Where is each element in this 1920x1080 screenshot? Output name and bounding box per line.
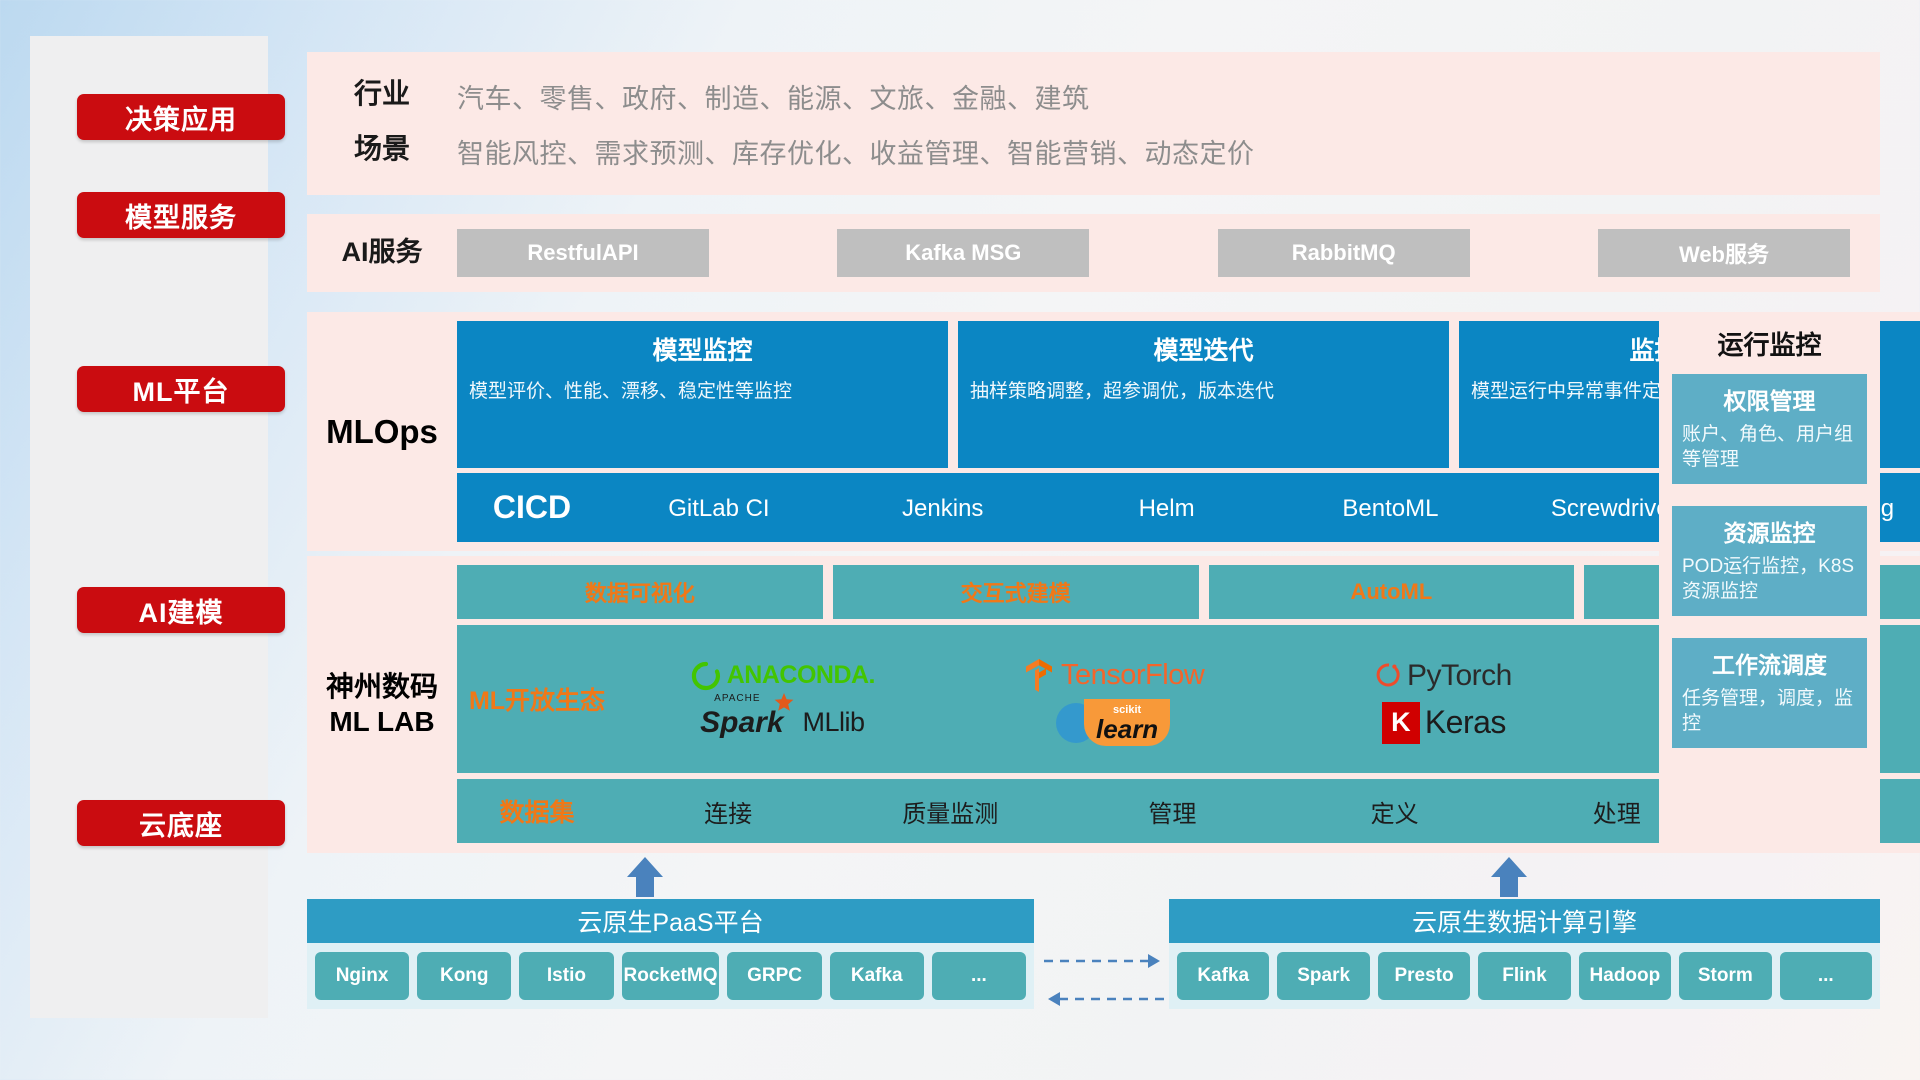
monitoring-card-workflow[interactable]: 工作流调度 任务管理，调度，监控: [1672, 638, 1867, 748]
engine-chip-storm[interactable]: Storm: [1679, 952, 1771, 1000]
tensorflow-wordmark: TensorFlow: [1061, 659, 1204, 692]
tool-automl[interactable]: AutoML: [1209, 565, 1575, 619]
dataset-item-connect[interactable]: 连接: [617, 794, 839, 829]
pytorch-logo: PyTorch: [1376, 659, 1512, 693]
paas-chip-istio[interactable]: Istio: [519, 952, 613, 1000]
card-desc: 账户、角色、用户组等管理: [1682, 422, 1857, 472]
cicd-item-gitlab-ci[interactable]: GitLab CI: [607, 490, 831, 524]
card-title: 权限管理: [1682, 382, 1857, 416]
tensorflow-mark-icon: [1022, 658, 1056, 694]
keras-badge: K: [1382, 702, 1420, 744]
card-title: 资源监控: [1682, 514, 1857, 548]
scikit-learn-logo: scikit learn: [1056, 699, 1170, 746]
cloud-data-engine-block: 云原生数据计算引擎 Kafka Spark Presto Flink Hadoo…: [1169, 899, 1880, 1009]
left-rail: 决策应用 模型服务 ML平台 AI建模 云底座: [30, 36, 268, 1018]
mllib-wordmark: MLlib: [803, 707, 865, 738]
anaconda-wordmark: ANACONDA.: [727, 661, 875, 690]
bidirectional-link-icon: [1042, 949, 1166, 1011]
ai-service-chip-web[interactable]: Web服务: [1598, 229, 1850, 277]
anaconda-mark-icon: [690, 660, 722, 692]
cloud-data-engine-title: 云原生数据计算引擎: [1169, 899, 1880, 943]
ml-lab-label-wrap: 神州数码ML LAB: [307, 556, 457, 853]
cicd-label: CICD: [457, 489, 607, 526]
arrow-up-data-engine-icon: [1487, 855, 1531, 899]
ml-lab-label-line2: ML LAB: [329, 706, 434, 737]
anaconda-logo: ANACONDA.: [690, 660, 875, 692]
ai-service-label: AI服务: [307, 237, 457, 269]
engine-chip-flink[interactable]: Flink: [1478, 952, 1570, 1000]
learn-wordmark: learn: [1096, 716, 1158, 742]
rail-tag-decision-app[interactable]: 决策应用: [77, 94, 285, 140]
industry-label: 行业: [307, 77, 457, 116]
spark-star-icon: [772, 692, 796, 716]
spark-mllib-logo: APACHE Spark MLlib: [700, 706, 864, 740]
pytorch-wordmark: PyTorch: [1407, 659, 1512, 693]
rail-tag-ai-modeling[interactable]: AI建模: [77, 587, 285, 633]
ml-lab-label: 神州数码ML LAB: [326, 670, 438, 738]
monitoring-card-resources[interactable]: 资源监控 POD运行监控，K8S资源监控: [1672, 506, 1867, 616]
keras-wordmark: Keras: [1425, 704, 1506, 741]
ai-service-chip-restfulapi[interactable]: RestfulAPI: [457, 229, 709, 277]
mlops-card-model-monitoring[interactable]: 模型监控 模型评价、性能、漂移、稳定性等监控: [457, 321, 948, 468]
ml-eco-label: ML开放生态: [457, 681, 617, 717]
paas-chip-rocketmq[interactable]: RocketMQ: [622, 952, 720, 1000]
paas-chip-kafka[interactable]: Kafka: [830, 952, 924, 1000]
cloud-foundation-zone: 云原生PaaS平台 Nginx Kong Istio RocketMQ GRPC…: [307, 853, 1880, 1028]
tool-data-visualization[interactable]: 数据可视化: [457, 565, 823, 619]
dataset-item-manage[interactable]: 管理: [1061, 794, 1283, 829]
rail-tag-model-service[interactable]: 模型服务: [77, 192, 285, 238]
ai-service-chip-rabbitmq[interactable]: RabbitMQ: [1218, 229, 1470, 277]
engine-chip-more[interactable]: ...: [1780, 952, 1872, 1000]
cicd-item-bentoml[interactable]: BentoML: [1278, 490, 1502, 524]
paas-chip-kong[interactable]: Kong: [417, 952, 511, 1000]
cloud-paas-block: 云原生PaaS平台 Nginx Kong Istio RocketMQ GRPC…: [307, 899, 1034, 1009]
dataset-item-quality[interactable]: 质量监测: [839, 794, 1061, 829]
monitoring-title: 运行监控: [1659, 312, 1880, 374]
engine-chip-kafka[interactable]: Kafka: [1177, 952, 1269, 1000]
engine-chip-presto[interactable]: Presto: [1378, 952, 1470, 1000]
card-desc: 模型评价、性能、漂移、稳定性等监控: [469, 379, 936, 405]
paas-chip-grpc[interactable]: GRPC: [727, 952, 821, 1000]
mlops-card-model-iteration[interactable]: 模型迭代 抽样策略调整，超参调优，版本迭代: [958, 321, 1449, 468]
business-panel: 行业 汽车、零售、政府、制造、能源、文旅、金融、建筑 场景 智能风控、需求预测、…: [307, 52, 1880, 195]
keras-logo: K Keras: [1382, 702, 1506, 744]
card-desc: POD运行监控，K8S资源监控: [1682, 554, 1857, 604]
monitoring-panel: 运行监控 权限管理 账户、角色、用户组等管理 资源监控 POD运行监控，K8S资…: [1659, 312, 1880, 853]
scenario-label: 场景: [307, 132, 457, 171]
scenario-values: 智能风控、需求预测、库存优化、收益管理、智能营销、动态定价: [457, 132, 1880, 171]
dataset-item-define[interactable]: 定义: [1284, 794, 1506, 829]
card-title: 工作流调度: [1682, 646, 1857, 680]
engine-chip-hadoop[interactable]: Hadoop: [1579, 952, 1671, 1000]
arrow-up-paas-icon: [623, 855, 667, 899]
card-desc: 任务管理，调度，监控: [1682, 686, 1857, 736]
cloud-paas-title: 云原生PaaS平台: [307, 899, 1034, 943]
paas-chip-nginx[interactable]: Nginx: [315, 952, 409, 1000]
mlops-label-wrap: MLOps: [307, 312, 457, 551]
ml-lab-label-line1: 神州数码: [326, 671, 438, 702]
paas-chip-more[interactable]: ...: [932, 952, 1026, 1000]
rail-tag-ml-platform[interactable]: ML平台: [77, 366, 285, 412]
card-desc: 抽样策略调整，超参调优，版本迭代: [970, 379, 1437, 405]
card-title: 模型迭代: [970, 331, 1437, 367]
ai-service-panel: AI服务 RestfulAPI Kafka MSG RabbitMQ Web服务: [307, 214, 1880, 292]
tool-interactive-modeling[interactable]: 交互式建模: [833, 565, 1199, 619]
monitoring-card-permissions[interactable]: 权限管理 账户、角色、用户组等管理: [1672, 374, 1867, 484]
rail-tag-cloud-base[interactable]: 云底座: [77, 800, 285, 846]
engine-chip-spark[interactable]: Spark: [1277, 952, 1369, 1000]
diagram-canvas: 决策应用 模型服务 ML平台 AI建模 云底座 行业 汽车、零售、政府、制造、能…: [0, 0, 1920, 1080]
cicd-item-jenkins[interactable]: Jenkins: [831, 490, 1055, 524]
dataset-label: 数据集: [457, 793, 617, 829]
industry-values: 汽车、零售、政府、制造、能源、文旅、金融、建筑: [457, 77, 1880, 116]
card-title: 模型监控: [469, 331, 936, 367]
cicd-item-helm[interactable]: Helm: [1055, 490, 1279, 524]
tensorflow-logo: TensorFlow: [1022, 658, 1204, 694]
pytorch-mark-icon: [1376, 661, 1402, 691]
spark-apache-text: APACHE: [714, 693, 760, 704]
ai-service-chip-kafka-msg[interactable]: Kafka MSG: [837, 229, 1089, 277]
mlops-label: MLOps: [326, 413, 438, 451]
